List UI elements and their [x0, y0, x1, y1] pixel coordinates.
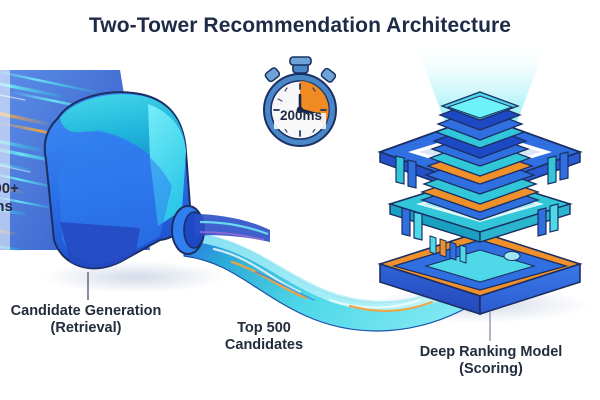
stage-label-ranking-line2: (Scoring)	[459, 361, 523, 377]
layered-server-stack-icon	[380, 92, 580, 314]
stage-label-candidate-generation-line1: Candidate Generation	[11, 303, 162, 319]
page-title: Two-Tower Recommendation Architecture	[0, 14, 600, 39]
stage-label-transfer-line1: Top 500	[237, 320, 291, 336]
stopwatch-icon	[264, 57, 337, 146]
stage-label-ingest: 000+ms	[0, 180, 42, 215]
funnel-shadow	[43, 261, 227, 293]
latency-badge-value: 200ms	[255, 108, 347, 124]
stage-label-ranking: Deep Ranking Model(Scoring)	[396, 344, 586, 378]
stage-label-candidate-generation-line2: (Retrieval)	[51, 320, 122, 336]
stage-label-transfer: Top 500Candidates	[194, 320, 334, 354]
stage-label-ranking-line1: Deep Ranking Model	[420, 344, 563, 360]
stage-label-ingest-line1: 000+	[0, 180, 19, 197]
funnel-icon	[45, 92, 270, 268]
stage-label-transfer-line2: Candidates	[225, 337, 303, 353]
stage-label-ingest-line2: ms	[0, 198, 13, 215]
diagram-canvas: Two-Tower Recommendation Architecture 20…	[0, 0, 600, 400]
stage-label-candidate-generation: Candidate Generation(Retrieval)	[4, 303, 168, 337]
